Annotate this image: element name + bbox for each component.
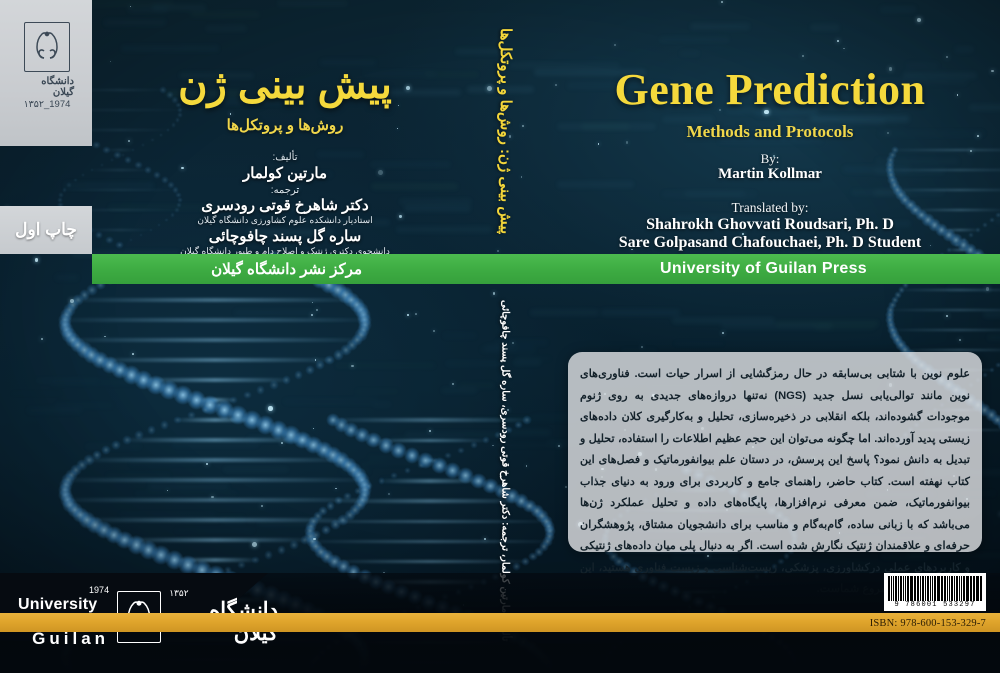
gold-stripe [0,613,1000,632]
back-translator-label: ترجمه: [120,185,450,196]
back-translator-1-name: دکتر شاهرخ قوتی رودسری [120,196,450,214]
barcode: 9 786001 533297 [884,573,986,611]
spine-title: پیش بینی ژن: روش‌ها و پروتکل‌ها [496,28,514,234]
back-author-label: تألیف: [120,152,450,163]
back-subtitle-fa: روش‌ها و پروتکل‌ها [120,116,450,134]
front-title: Gene Prediction [540,64,1000,115]
university-crest-name-fa: دانشگاه گیلان [20,76,74,98]
front-translated-label: Translated by: [540,200,1000,216]
book-cover: دانشگاه گیلان ۱۳۵۲_1974 پیش بینی ژن روش‌… [0,0,1000,673]
publisher-name-en: University of Guilan Press [660,260,867,278]
publisher-name-fa: مرکز نشر دانشگاه گیلان [211,260,362,278]
front-translator-1: Shahrokh Ghovvati Roudsari, Ph. D [540,216,1000,234]
university-crest-top: دانشگاه گیلان ۱۳۵۲_1974 [20,22,74,126]
back-author-name: مارتین کولمار [120,164,450,182]
university-crest-icon [24,22,70,72]
barcode-digits: 9 786001 533297 [888,601,982,609]
university-logo-year-en: 1974 [89,586,109,595]
publisher-band: مرکز نشر دانشگاه گیلان University of Gui… [92,254,1000,284]
front-translator-2: Sare Golpasand Chafouchaei, Ph. D Studen… [540,234,1000,252]
edition-badge: چاپ اول [0,206,92,254]
barcode-bars [888,576,982,601]
front-author-name: Martin Kollmar [540,166,1000,183]
back-translator-2-name: ساره گل پسند چافوچائی [120,227,450,245]
university-logo-line2: Guilan [32,630,109,648]
back-translator-1-affiliation: استادیار دانشکده علوم کشاورزی دانشگاه گی… [120,215,450,226]
edition-label: چاپ اول [15,220,77,240]
university-logo-year-fa: ۱۳۵۲ [169,589,188,599]
university-crest-years: ۱۳۵۲_1974 [24,99,71,110]
front-by-label: By: [540,151,1000,167]
description-text: علوم نوین با شتابی بی‌سابقه در حال رمزگش… [580,364,970,544]
isbn-label: ISBN: 978-600-153-329-7 [870,614,986,632]
front-subtitle: Methods and Protocols [540,122,1000,142]
back-title-fa: پیش بینی ژن [120,62,450,108]
